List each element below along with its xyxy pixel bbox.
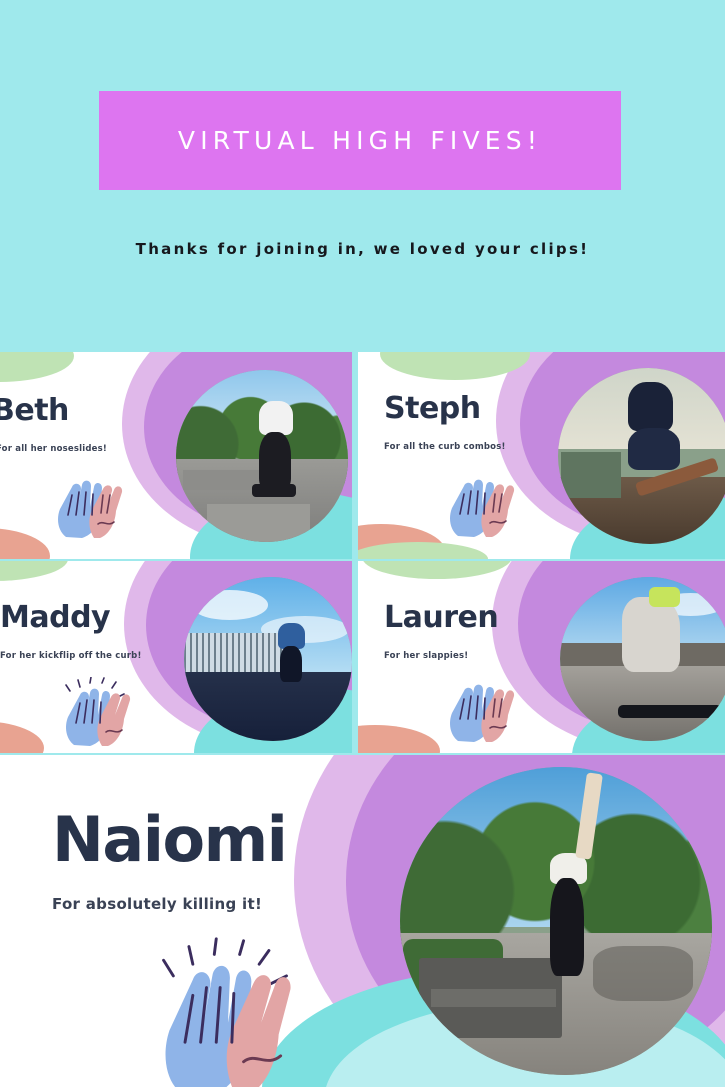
decorative-blob-salmon bbox=[358, 725, 440, 753]
photo-maddy bbox=[184, 577, 352, 741]
decorative-blob-salmon bbox=[0, 528, 50, 559]
page-title: VIRTUAL HIGH FIVES! bbox=[178, 126, 542, 155]
card-name-lauren: Lauren bbox=[384, 603, 498, 633]
hero-section: VIRTUAL HIGH FIVES! Thanks for joining i… bbox=[0, 0, 725, 352]
high-five-icon bbox=[440, 476, 522, 538]
card-maddy[interactable]: Maddy For her kickflip off the curb! bbox=[0, 561, 352, 753]
high-five-icon bbox=[56, 677, 138, 747]
card-name-steph: Steph bbox=[384, 394, 481, 424]
card-description-naiomi: For absolutely killing it! bbox=[52, 895, 262, 913]
card-name-beth: Beth bbox=[0, 396, 69, 426]
photo-naiomi bbox=[400, 767, 712, 1075]
decorative-blob-green bbox=[0, 561, 68, 581]
high-five-icon bbox=[440, 681, 522, 743]
hero-banner: VIRTUAL HIGH FIVES! bbox=[99, 91, 621, 190]
hero-subtitle: Thanks for joining in, we loved your cli… bbox=[0, 240, 725, 258]
card-name-naiomi: Naiomi bbox=[52, 809, 286, 871]
card-description-beth: For all her noseslides! bbox=[0, 444, 107, 454]
card-steph[interactable]: Steph For all the curb combos! bbox=[358, 352, 725, 559]
card-naiomi[interactable]: Naiomi For absolutely killing it! bbox=[0, 755, 725, 1087]
card-description-maddy: For her kickflip off the curb! bbox=[0, 651, 142, 661]
cards-grid: Beth For all her noseslides! bbox=[0, 352, 725, 1087]
high-five-icon bbox=[146, 925, 306, 1087]
slide-canvas: VIRTUAL HIGH FIVES! Thanks for joining i… bbox=[0, 0, 725, 1087]
high-five-icon bbox=[48, 477, 130, 539]
decorative-blob-green-bottom bbox=[358, 542, 488, 559]
card-lauren[interactable]: Lauren For her slappies! bbox=[358, 561, 725, 753]
card-name-maddy: Maddy bbox=[0, 603, 110, 633]
decorative-blob-salmon bbox=[0, 721, 44, 753]
card-description-steph: For all the curb combos! bbox=[384, 442, 506, 452]
card-description-lauren: For her slappies! bbox=[384, 651, 468, 661]
decorative-blob-green bbox=[362, 561, 512, 579]
photo-steph bbox=[558, 368, 725, 544]
photo-beth bbox=[176, 370, 348, 542]
card-beth[interactable]: Beth For all her noseslides! bbox=[0, 352, 352, 559]
decorative-blob-green bbox=[0, 352, 74, 382]
photo-lauren bbox=[560, 577, 725, 741]
